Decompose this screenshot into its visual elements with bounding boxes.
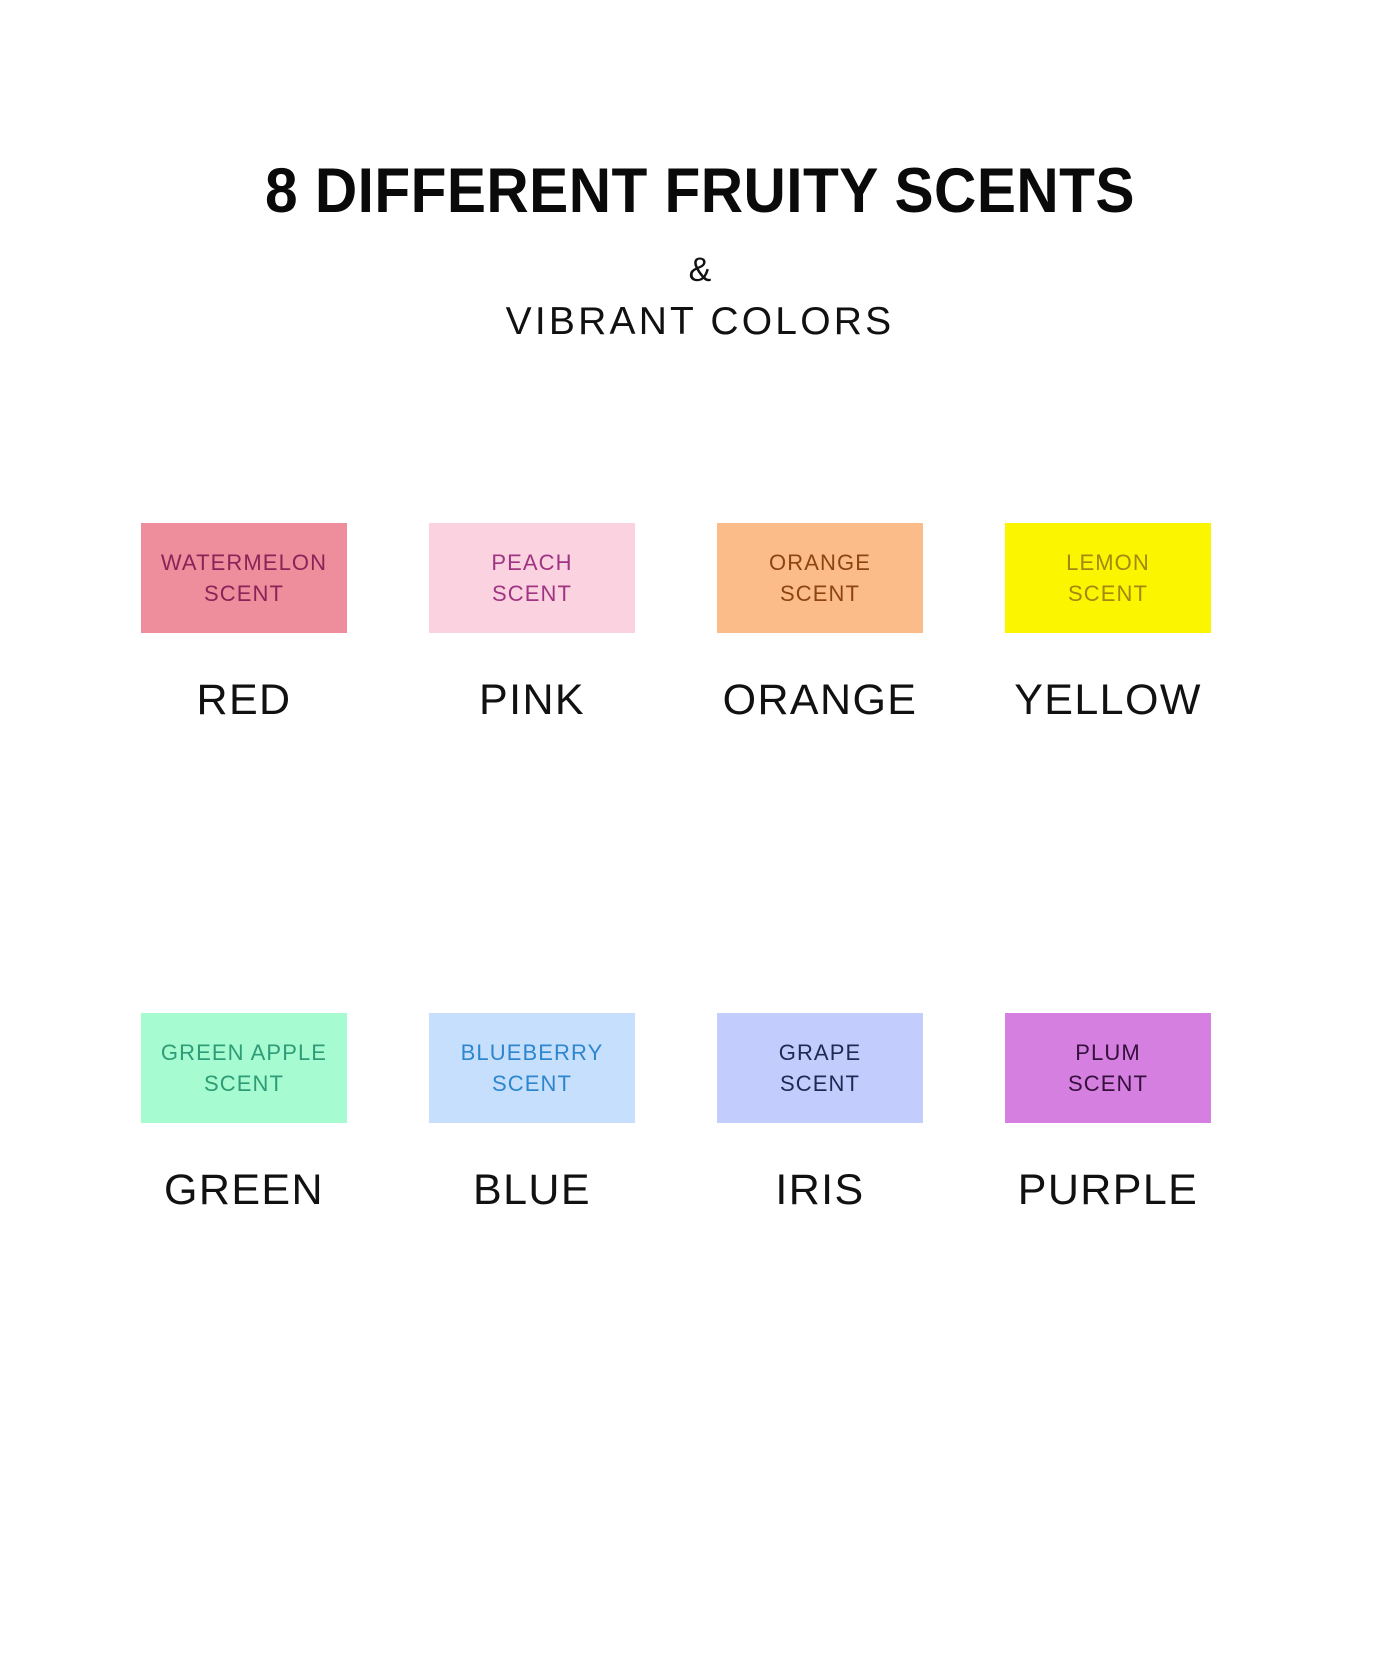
swatch-cell[interactable]: GRAPE SCENT IRIS [676, 1013, 964, 1212]
color-name-label: GREEN [164, 1169, 324, 1212]
swatch-cell[interactable]: ORANGE SCENT ORANGE [676, 523, 964, 722]
scent-label-line2: SCENT [204, 1068, 284, 1099]
color-name-label: RED [197, 679, 292, 722]
color-name-label: ORANGE [723, 679, 918, 722]
scent-label-line1: WATERMELON [161, 547, 327, 578]
color-name-label: YELLOW [1014, 679, 1202, 722]
color-swatch-orange[interactable]: ORANGE SCENT [717, 523, 923, 633]
color-swatch-red[interactable]: WATERMELON SCENT [141, 523, 347, 633]
color-swatch-blue[interactable]: BLUEBERRY SCENT [429, 1013, 635, 1123]
swatch-cell[interactable]: GREEN APPLE SCENT GREEN [100, 1013, 388, 1212]
swatch-cell[interactable]: BLUEBERRY SCENT BLUE [388, 1013, 676, 1212]
color-swatch-pink[interactable]: PEACH SCENT [429, 523, 635, 633]
color-name-label: IRIS [775, 1169, 864, 1212]
scent-label-line1: GREEN APPLE [161, 1037, 327, 1068]
swatch-grid-row-2: GREEN APPLE SCENT GREEN BLUEBERRY SCENT … [100, 1013, 1300, 1212]
scent-label-line2: SCENT [492, 1068, 572, 1099]
scent-label-line1: LEMON [1066, 547, 1150, 578]
scent-label-line1: PEACH [491, 547, 572, 578]
scent-label-line2: SCENT [780, 578, 860, 609]
ampersand-separator: & [0, 253, 1400, 287]
page-subtitle: VIBRANT COLORS [0, 301, 1400, 344]
poster-page: 8 DIFFERENT FRUITY SCENTS & VIBRANT COLO… [0, 0, 1400, 1680]
color-swatch-yellow[interactable]: LEMON SCENT [1005, 523, 1211, 633]
color-swatch-purple[interactable]: PLUM SCENT [1005, 1013, 1211, 1123]
scent-label-line1: GRAPE [779, 1037, 862, 1068]
poster-header: 8 DIFFERENT FRUITY SCENTS & VIBRANT COLO… [0, 158, 1400, 344]
scent-label-line2: SCENT [1068, 1068, 1148, 1099]
swatch-cell[interactable]: WATERMELON SCENT RED [100, 523, 388, 722]
scent-label-line2: SCENT [780, 1068, 860, 1099]
color-name-label: BLUE [473, 1169, 591, 1212]
page-title: 8 DIFFERENT FRUITY SCENTS [49, 158, 1351, 225]
color-name-label: PINK [479, 679, 585, 722]
scent-label-line1: PLUM [1075, 1037, 1141, 1068]
swatch-cell[interactable]: LEMON SCENT YELLOW [964, 523, 1252, 722]
scent-label-line2: SCENT [492, 578, 572, 609]
color-name-label: PURPLE [1018, 1169, 1198, 1212]
color-swatch-green[interactable]: GREEN APPLE SCENT [141, 1013, 347, 1123]
scent-label-line1: ORANGE [769, 547, 871, 578]
scent-label-line2: SCENT [1068, 578, 1148, 609]
scent-label-line2: SCENT [204, 578, 284, 609]
swatch-grid-row-1: WATERMELON SCENT RED PEACH SCENT PINK OR… [100, 523, 1300, 722]
scent-label-line1: BLUEBERRY [461, 1037, 604, 1068]
color-swatch-iris[interactable]: GRAPE SCENT [717, 1013, 923, 1123]
swatch-cell[interactable]: PEACH SCENT PINK [388, 523, 676, 722]
swatch-cell[interactable]: PLUM SCENT PURPLE [964, 1013, 1252, 1212]
